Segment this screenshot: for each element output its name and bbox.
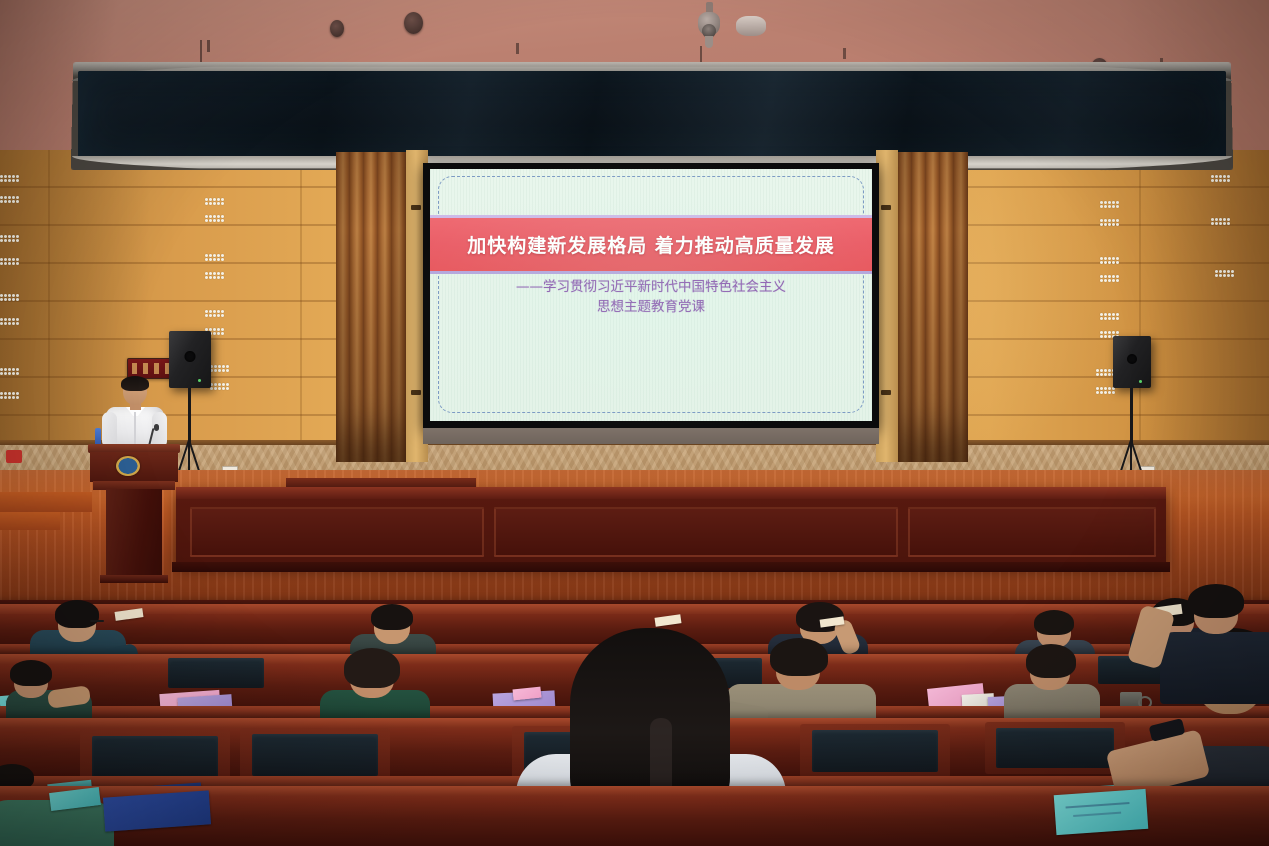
- acoustic-perforations: [1215, 270, 1234, 277]
- acoustic-perforations: [0, 235, 19, 242]
- ceiling-hook: [516, 43, 519, 54]
- stage-front-panel: [176, 487, 1166, 565]
- stage-step: [0, 512, 60, 530]
- acoustic-perforations: [1100, 201, 1119, 208]
- acoustic-perforations: [0, 392, 19, 399]
- slide-title-band: 加快构建新发展格局 着力推动高质量发展: [430, 215, 872, 274]
- presentation-slide: 加快构建新发展格局 着力推动高质量发展 ——学习贯彻习近平新时代中国特色社会主义…: [430, 169, 872, 421]
- speaker-stand-pole-right: [1130, 388, 1133, 444]
- attendee-hair: [1034, 610, 1074, 635]
- acoustic-perforations: [210, 365, 229, 372]
- slide-subtitle-line-1: ——学习贯彻习近平新时代中国特色社会主义: [430, 277, 872, 297]
- stage-curtain-right: [898, 152, 968, 462]
- acoustic-perforations: [1100, 275, 1119, 282]
- attendee-hair: [1026, 644, 1076, 678]
- acoustic-perforations: [1100, 257, 1119, 264]
- podium: [88, 444, 180, 584]
- acoustic-perforations: [0, 175, 19, 182]
- presenter-arm-left: [102, 412, 117, 448]
- conference-hall-photo: 加快构建新发展格局 着力推动高质量发展 ——学习贯彻习近平新时代中国特色社会主义…: [0, 0, 1269, 846]
- ceiling-speaker-icon: [330, 20, 344, 37]
- wall-seam: [300, 150, 302, 480]
- screen-pillar-right: [876, 150, 898, 462]
- attendee-hair: [1188, 584, 1244, 618]
- stage-base-trim: [172, 562, 1170, 572]
- desk-booklet-cyan[interactable]: [1054, 789, 1149, 835]
- dome-camera-icon: [698, 2, 720, 48]
- acoustic-perforations: [0, 294, 19, 301]
- slide-subtitle: ——学习贯彻习近平新时代中国特色社会主义 思想主题教育党课: [430, 277, 872, 317]
- slide-subtitle-line-2: 思想主题教育党课: [430, 297, 872, 317]
- acoustic-perforations: [1100, 313, 1119, 320]
- slide-title: 加快构建新发展格局 着力推动高质量发展: [467, 231, 835, 258]
- stage-curtain-left: [336, 152, 406, 462]
- acoustic-perforations: [1211, 218, 1230, 225]
- presenter-hair: [121, 376, 149, 391]
- pa-speaker-icon-left: [169, 331, 211, 388]
- attendee-hair: [10, 660, 52, 686]
- attendee: [1160, 590, 1269, 710]
- acoustic-perforations: [0, 368, 19, 375]
- ceiling-hook: [843, 48, 846, 59]
- stage-step: [0, 492, 92, 512]
- attendee-hair: [371, 604, 413, 630]
- glasses-icon: [90, 620, 104, 622]
- seat-cushion[interactable]: [252, 734, 378, 776]
- attendee-hair: [55, 600, 99, 628]
- acoustic-perforations: [205, 215, 224, 222]
- mic-capsule: [154, 424, 159, 431]
- screen-under-panel: [423, 428, 879, 444]
- seat-cushion[interactable]: [996, 728, 1114, 768]
- seat-cushion[interactable]: [812, 730, 938, 772]
- attendee-hair: [344, 648, 400, 688]
- overhead-led-banner: [72, 62, 1232, 170]
- wall-shadow-right: [1139, 150, 1269, 480]
- pa-speaker-icon-right: [1113, 336, 1151, 388]
- acoustic-perforations: [205, 310, 224, 317]
- ceiling-light-icon: [736, 16, 766, 36]
- acoustic-perforations: [0, 318, 19, 325]
- presenter-at-podium: [104, 378, 166, 450]
- acoustic-perforations: [1211, 175, 1230, 182]
- acoustic-perforations: [0, 258, 19, 265]
- acoustic-perforations: [205, 254, 224, 261]
- banner-display-surface: [78, 71, 1226, 159]
- speaker-stand-pole-left: [188, 388, 191, 444]
- ceiling-hook: [207, 40, 210, 52]
- acoustic-perforations: [205, 198, 224, 205]
- national-emblem-icon: [116, 456, 140, 476]
- acoustic-perforations: [205, 272, 224, 279]
- audience-seating-area: [0, 600, 1269, 846]
- seat-cushion[interactable]: [92, 736, 218, 778]
- ceiling-speaker-icon: [404, 12, 423, 34]
- acoustic-perforations: [1100, 219, 1119, 226]
- projection-screen: 加快构建新发展格局 着力推动高质量发展 ——学习贯彻习近平新时代中国特色社会主义…: [423, 163, 879, 428]
- attendee-torso: [1160, 632, 1269, 704]
- seat-cushion[interactable]: [168, 658, 264, 688]
- acoustic-perforations: [0, 196, 19, 203]
- acoustic-perforations: [210, 383, 229, 390]
- exit-marker: [6, 450, 22, 463]
- acoustic-perforations: [1096, 387, 1115, 394]
